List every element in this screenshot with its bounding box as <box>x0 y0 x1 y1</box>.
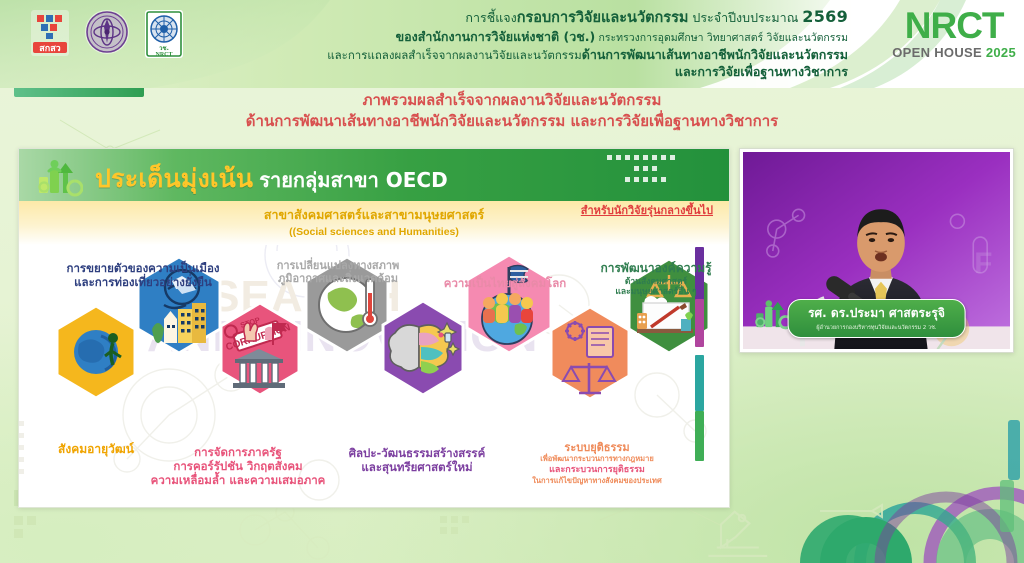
hex-justice-system[interactable] <box>547 305 633 401</box>
header-line-3: และการแถลงผลสำเร็จจากผลงานวิจัยและนวัตกร… <box>303 47 848 64</box>
label-creative-culture: ศิลปะ-วัฒนธรรมสร้างสรรค์ และสุนทรียศาสตร… <box>319 446 515 474</box>
label-justice-system: ระบบยุติธรรม เพื่อพัฒนากระบวนการทางกฎหมา… <box>491 441 703 486</box>
subtitle-line-1: ภาพรวมผลสำเร็จจากผลงานวิจัยและนวัตกรรม <box>0 90 1024 111</box>
nrct-seal-logo: วช. NRCT <box>144 9 184 59</box>
tsri-logo-text: สกสว <box>39 44 61 54</box>
hex-thainess-global[interactable] <box>463 253 555 355</box>
university-seal-logo <box>84 9 130 55</box>
nrct-open-house-subtitle: OPEN HOUSE 2025 <box>892 45 1016 60</box>
nrct-seal-text-th: วช. <box>159 45 169 52</box>
label-urbanization: การขยายตัวของความเป็นเมือง และการท่องเที… <box>19 261 267 289</box>
header-line-2: ของสำนักงานการวิจัยแห่งชาติ (วช.) กระทรว… <box>303 29 848 46</box>
nrct-seal-text-en: NRCT <box>155 52 172 58</box>
nrct-wordmark: NRCT <box>892 8 1016 43</box>
presentation-stage: สกสว <box>0 0 1024 563</box>
header-title-block: การชี้แจงกรอบการวิจัยและนวัตกรรม ประจำปี… <box>303 6 848 81</box>
speaker-name-plate: รศ. ดร.ประมา ศาสตระรุจิ ผู้อำนวยการกองบร… <box>787 299 966 338</box>
label-public-sector-governance: การจัดการภาครัฐ การคอร์รัปชัน วิกฤตสังคม… <box>124 445 352 487</box>
organization-logos: สกสว <box>30 9 184 59</box>
label-climate-change: การเปลี่ยนแปลงทางสภาพ ภูมิอากาศและสิ่งแว… <box>243 259 433 286</box>
accent-bar-magenta <box>695 299 704 347</box>
slide-title: ประเด็นมุ่งเน้นรายกลุ่มสาขา OECD <box>95 159 448 199</box>
slide-title-sub: รายกลุ่มสาขา OECD <box>259 168 448 192</box>
speaker-name: รศ. ดร.ประมา ศาสตระรุจิ <box>808 304 945 323</box>
speaker-title: ผู้อำนวยการกองบริหารทุนวิจัยและนวัตกรรม … <box>808 324 945 332</box>
page-header: สกสว <box>0 0 1024 88</box>
hex-public-sector-governance[interactable]: CORRUPTION STOP <box>217 301 303 397</box>
label-knowledge-development: การพัฒนาองค์ความรู้ ด้านสังคมศาสตร์ และม… <box>567 261 730 297</box>
accent-bar-teal <box>695 355 704 411</box>
discipline-band-th: สาขาสังคมศาสตร์และสาขามนุษยศาสตร์ <box>19 205 729 225</box>
presentation-subtitle: ภาพรวมผลสำเร็จจากผลงานวิจัยและนวัตกรรม ด… <box>0 90 1024 133</box>
speaker-video-panel[interactable]: F <box>739 148 1014 353</box>
hex-aging-society[interactable] <box>53 304 139 400</box>
hex-creative-culture[interactable] <box>379 299 467 397</box>
discipline-band-en: ((Social sciences and Humanities) <box>19 226 729 238</box>
growth-icon <box>35 157 83 197</box>
header-line-1: การชี้แจงกรอบการวิจัยและนวัตกรรม ประจำปี… <box>303 6 848 28</box>
header-line-4: และการวิจัยเพื่อฐานทางวิชาการ <box>303 64 848 81</box>
speaker-video-frame: F <box>743 152 1010 349</box>
tsri-logo: สกสว <box>30 9 70 57</box>
dot-grid-decoration <box>607 155 687 189</box>
discipline-band-text: สาขาสังคมศาสตร์และสาขามนุษยศาสตร์ ((Soci… <box>19 205 729 238</box>
slide-title-main: ประเด็นมุ่งเน้น <box>95 164 253 193</box>
subtitle-line-2: ด้านการพัฒนาเส้นทางอาชีพนักวิจัยและนวัตก… <box>0 111 1024 132</box>
nrct-open-house-logo: NRCT OPEN HOUSE 2025 <box>892 8 1016 60</box>
svg-text:F: F <box>974 247 992 280</box>
slide-content: ประเด็นมุ่งเน้นรายกลุ่มสาขา OECD สำหรับน… <box>18 148 730 508</box>
